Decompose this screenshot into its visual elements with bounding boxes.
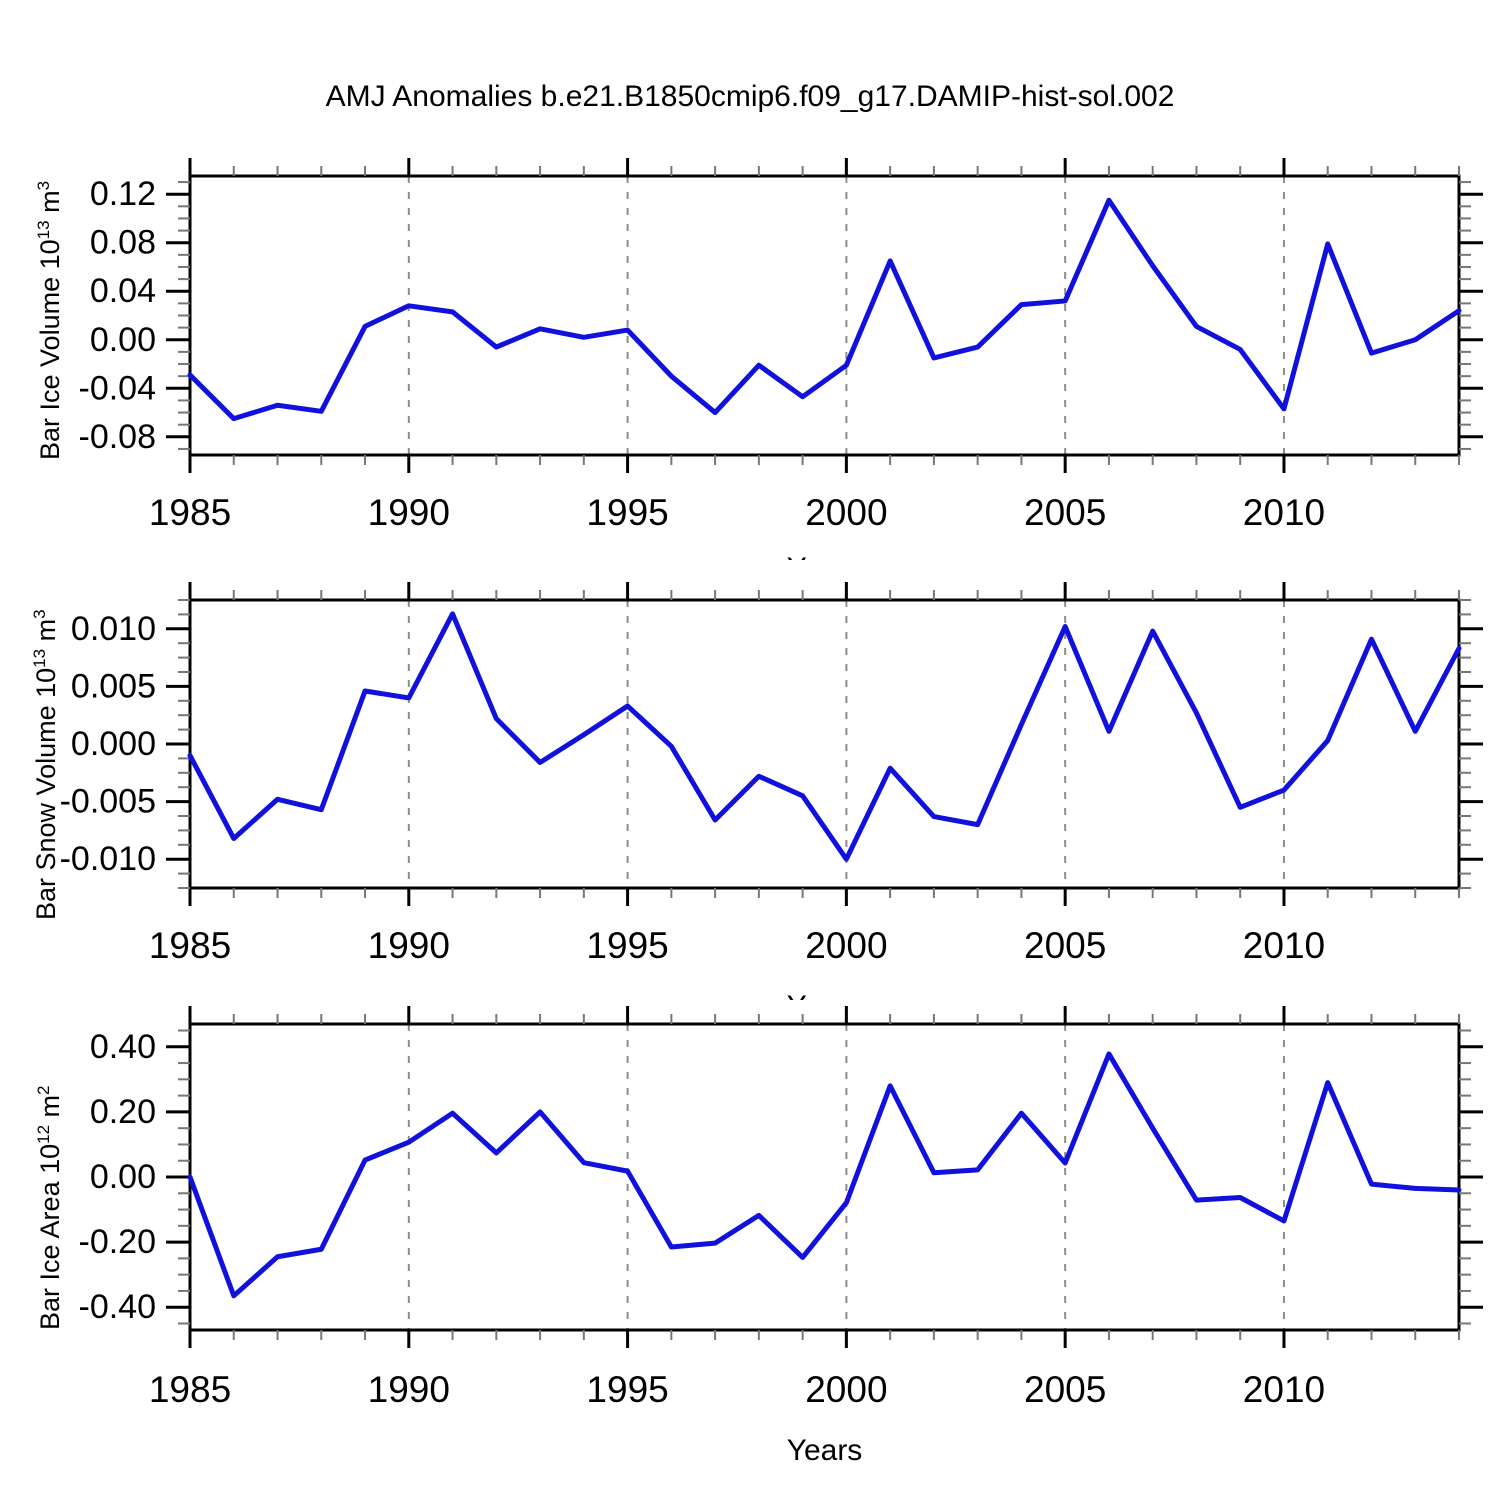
data-line	[190, 1054, 1459, 1296]
x-axis-title: Years	[787, 552, 863, 560]
y-tick-label: 0.08	[90, 224, 156, 262]
x-tick-label: 2005	[1024, 925, 1106, 966]
y-tick-label: 0.00	[90, 321, 156, 359]
x-tick-label: 1985	[149, 925, 231, 966]
y-tick-label: 0.04	[90, 272, 156, 310]
x-tick-label: 2000	[805, 1369, 887, 1410]
y-tick-label: 0.20	[90, 1093, 156, 1131]
panel-snow-volume: Bar Snow Volume 1013 m3 0.0100.0050.000-…	[0, 560, 1500, 1000]
x-tick-label: 1995	[586, 925, 668, 966]
x-tick-label: 1995	[586, 492, 668, 533]
data-line	[190, 614, 1459, 859]
y-tick-label: 0.12	[90, 175, 156, 213]
panel-ice-area: Bar Ice Area 1012 m2 0.400.200.00-0.20-0…	[0, 1000, 1500, 1500]
y-tick-label: 0.000	[71, 725, 156, 763]
y-tick-label: -0.08	[79, 418, 157, 456]
chart-page: AMJ Anomalies b.e21.B1850cmip6.f09_g17.D…	[0, 0, 1500, 1500]
y-tick-label: 0.40	[90, 1028, 156, 1066]
panel3-plot: 0.400.200.00-0.20-0.40198519901995200020…	[0, 1000, 1500, 1500]
x-tick-label: 1990	[368, 925, 450, 966]
y-tick-label: -0.010	[60, 840, 156, 878]
x-tick-label: 1990	[368, 492, 450, 533]
x-tick-label: 2010	[1243, 492, 1325, 533]
x-tick-label: 1985	[149, 1369, 231, 1410]
x-tick-label: 2005	[1024, 492, 1106, 533]
y-tick-label: 0.00	[90, 1158, 156, 1196]
x-tick-label: 2000	[805, 925, 887, 966]
x-tick-label: 2005	[1024, 1369, 1106, 1410]
panel1-plot: 0.120.080.040.00-0.04-0.0819851990199520…	[0, 0, 1500, 560]
y-tick-label: 0.010	[71, 610, 156, 648]
x-tick-label: 1995	[586, 1369, 668, 1410]
x-axis-title: Years	[787, 990, 863, 1000]
panel2-plot: 0.0100.0050.000-0.005-0.0101985199019952…	[0, 560, 1500, 1000]
panel-ice-volume: Bar Ice Volume 1013 m3 0.120.080.040.00-…	[0, 0, 1500, 560]
y-tick-label: 0.005	[71, 667, 156, 705]
y-tick-label: -0.40	[79, 1288, 157, 1326]
x-tick-label: 2010	[1243, 1369, 1325, 1410]
y-tick-label: -0.005	[60, 783, 156, 821]
x-tick-label: 2000	[805, 492, 887, 533]
y-tick-label: -0.04	[79, 369, 157, 407]
x-axis-title: Years	[787, 1434, 863, 1467]
data-line	[190, 200, 1459, 418]
y-tick-label: -0.20	[79, 1223, 157, 1261]
x-tick-label: 1985	[149, 492, 231, 533]
x-tick-label: 2010	[1243, 925, 1325, 966]
x-tick-label: 1990	[368, 1369, 450, 1410]
